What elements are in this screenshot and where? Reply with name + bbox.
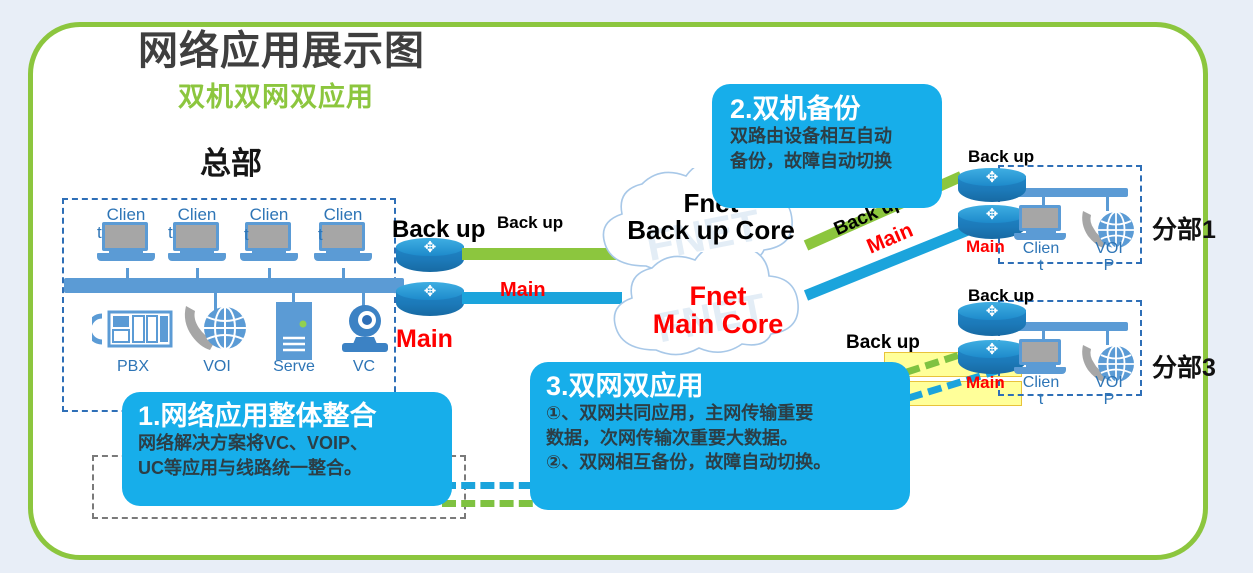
callout-2[interactable]: 2.双机备份 双路由设备相互自动 备份，故障自动切换 xyxy=(712,84,942,208)
branch3-main-router-label: Main xyxy=(966,374,1005,391)
client-3-stem xyxy=(268,268,271,282)
client-3-label-line1: Clien xyxy=(240,206,298,223)
page-subtitle: 双机双网双应用 xyxy=(178,84,374,111)
callout-3-body-line1: ①、双网共同应用，主网传输重要 xyxy=(546,401,896,425)
hq-backup-router[interactable]: ✥ xyxy=(396,238,464,278)
client-3-label-line2: t xyxy=(244,226,264,243)
headquarters-title: 总部 xyxy=(200,148,262,179)
laptop-base xyxy=(168,253,226,261)
router-arrows-icon: ✥ xyxy=(958,304,1026,320)
vc-label: VC xyxy=(338,358,390,375)
hq-backup-link-label: Back up xyxy=(497,214,563,231)
voip-label: VOI xyxy=(186,358,248,375)
branch1-client-label-line1: Clien xyxy=(1012,240,1070,257)
laptop-screen xyxy=(1019,339,1061,365)
diagram-canvas: 网络应用展示图 双机双网双应用 总部 Clien t Clien t Clien… xyxy=(0,0,1253,573)
server-label: Serve xyxy=(260,358,328,375)
main-core-label-line2: Main Core xyxy=(608,310,828,338)
laptop-base xyxy=(97,253,155,261)
pbx-label: PBX xyxy=(92,358,174,375)
callout-1-body-line2: UC等应用与线路统一整合。 xyxy=(138,456,438,480)
callout-2-body-line2: 备份，故障自动切换 xyxy=(730,149,928,173)
headquarters-backbone-bus xyxy=(64,278,404,293)
laptop-base xyxy=(1014,233,1066,240)
hq-main-link-label: Main xyxy=(500,280,546,300)
pbx-icon xyxy=(92,306,174,352)
page-title: 网络应用展示图 xyxy=(138,31,425,71)
branch3-name: 分部3 xyxy=(1152,348,1216,384)
branch1-client-label-line2: t xyxy=(1012,257,1070,274)
callout-3-body-line2: 数据，次网传输次重要大数据。 xyxy=(546,426,896,450)
client-1-label-line1: Clien xyxy=(97,206,155,223)
client-4-stem xyxy=(342,268,345,282)
vc-camera-icon xyxy=(336,304,394,356)
callout-1[interactable]: 1.网络应用整体整合 网络解决方案将VC、VOIP、 UC等应用与线路统一整合。 xyxy=(122,392,452,506)
hq-main-router-label: Main xyxy=(396,327,453,352)
branch1-voip-label-line2: P xyxy=(1082,257,1136,274)
callout-3-body-line3: ②、双网相互备份，故障自动切换。 xyxy=(546,450,896,474)
server-icon xyxy=(272,300,316,362)
branch1-backup-router[interactable]: ✥ xyxy=(958,168,1026,208)
branch1-main-router-label: Main xyxy=(966,238,1005,255)
branch1-voip-label-line1: VOI xyxy=(1082,240,1136,257)
callout-3[interactable]: 3.双网双应用 ①、双网共同应用，主网传输重要 数据，次网传输次重要大数据。 ②… xyxy=(530,362,910,510)
callout-1-title: 1.网络应用整体整合 xyxy=(138,401,438,431)
laptop-screen xyxy=(1019,205,1061,231)
client-2-label-line1: Clien xyxy=(168,206,226,223)
branch3-voip-label-line2: P xyxy=(1082,391,1136,408)
voip-globe-icon xyxy=(180,300,252,356)
backup-core-label-line2: Back up Core xyxy=(596,217,826,244)
branch3-backup-router-label: Back up xyxy=(968,287,1034,304)
branch1-name: 分部1 xyxy=(1152,210,1216,246)
branch3-backup-router[interactable]: ✥ xyxy=(958,302,1026,342)
callout-1-body-line1: 网络解决方案将VC、VOIP、 xyxy=(138,431,438,455)
branch3-backup-link-label: Back up xyxy=(846,333,920,352)
branch3-client-label-line1: Clien xyxy=(1012,374,1070,391)
callout-3-title: 3.双网双应用 xyxy=(546,371,896,401)
client-1-stem xyxy=(126,268,129,282)
branch1-backup-router-label: Back up xyxy=(968,148,1034,165)
client-2-stem xyxy=(196,268,199,282)
laptop-base xyxy=(1014,367,1066,374)
main-core-label-line1: Fnet xyxy=(608,282,828,310)
laptop-base xyxy=(314,253,372,261)
client-4-label-line1: Clien xyxy=(314,206,372,223)
router-arrows-icon: ✥ xyxy=(958,170,1026,186)
branch3-voip-label-line1: VOI xyxy=(1082,374,1136,391)
hq-main-router[interactable]: ✥ xyxy=(396,282,464,322)
router-arrows-icon: ✥ xyxy=(396,284,464,300)
branch3-client-label-line2: t xyxy=(1012,391,1070,408)
hq-backup-router-label: Back up xyxy=(392,218,485,242)
client-1-label-line2: t xyxy=(97,224,117,241)
callout-2-body-line1: 双路由设备相互自动 xyxy=(730,124,928,148)
laptop-base xyxy=(240,253,298,261)
client-2-label-line2: t xyxy=(168,224,188,241)
client-4-label-line2: t xyxy=(318,226,338,243)
callout-2-title: 2.双机备份 xyxy=(730,94,928,124)
